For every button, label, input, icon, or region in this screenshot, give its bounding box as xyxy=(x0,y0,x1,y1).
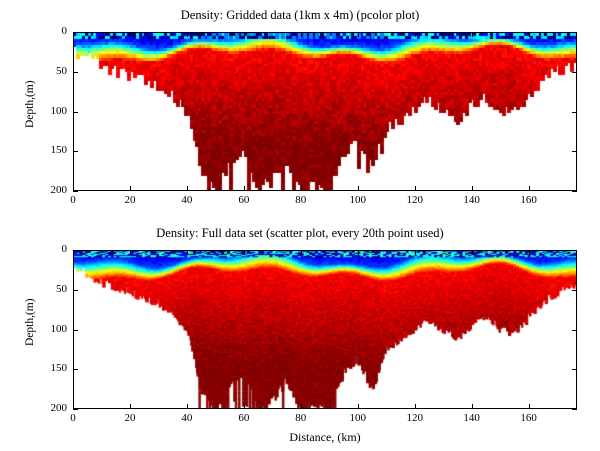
y-tick-label: 150 xyxy=(27,362,67,374)
y-tick-label: 150 xyxy=(27,144,67,156)
x-tickmark-top xyxy=(187,250,188,255)
x-tick-label: 80 xyxy=(281,412,321,424)
x-tickmark xyxy=(187,404,188,409)
x-tick-label: 100 xyxy=(338,412,378,424)
x-tickmark-top xyxy=(358,32,359,37)
x-tickmark-top xyxy=(187,32,188,37)
panel-scatter-title: Density: Full data set (scatter plot, ev… xyxy=(0,226,600,241)
y-tickmark-right xyxy=(572,250,577,251)
panel-scatter-canvas xyxy=(74,251,576,408)
x-tick-label: 140 xyxy=(452,412,492,424)
y-tickmark xyxy=(73,32,78,33)
x-tickmark xyxy=(358,186,359,191)
panel-gridded-canvas xyxy=(74,33,576,190)
y-tick-label: 200 xyxy=(27,184,67,196)
x-tickmark xyxy=(358,404,359,409)
y-tickmark-right xyxy=(572,151,577,152)
x-tickmark xyxy=(415,404,416,409)
x-tickmark-top xyxy=(415,250,416,255)
x-tick-label: 80 xyxy=(281,194,321,206)
panel-scatter: Density: Full data set (scatter plot, ev… xyxy=(0,218,600,451)
y-tickmark xyxy=(73,330,78,331)
x-tickmark xyxy=(529,404,530,409)
y-tickmark xyxy=(73,409,78,410)
x-tickmark xyxy=(187,186,188,191)
x-tick-label: 40 xyxy=(167,194,207,206)
x-tickmark xyxy=(244,404,245,409)
y-tickmark xyxy=(73,250,78,251)
x-tickmark-top xyxy=(415,32,416,37)
panel-gridded-plot-area[interactable] xyxy=(73,32,577,191)
x-tick-label: 60 xyxy=(224,194,264,206)
y-tick-label: 50 xyxy=(27,65,67,77)
y-tickmark-right xyxy=(572,290,577,291)
x-tickmark-top xyxy=(301,32,302,37)
y-tickmark xyxy=(73,151,78,152)
x-tickmark xyxy=(529,186,530,191)
y-tick-label: 100 xyxy=(27,323,67,335)
x-tick-label: 100 xyxy=(338,194,378,206)
panel-scatter-plot-area[interactable] xyxy=(73,250,577,409)
x-tickmark-top xyxy=(244,250,245,255)
x-tick-label: 140 xyxy=(452,194,492,206)
x-tickmark-top xyxy=(472,32,473,37)
x-tickmark-top xyxy=(244,32,245,37)
x-tick-label: 40 xyxy=(167,412,207,424)
x-tickmark xyxy=(301,186,302,191)
x-tick-label: 20 xyxy=(110,194,150,206)
y-tickmark xyxy=(73,290,78,291)
panel-gridded: Density: Gridded data (1km x 4m) (pcolor… xyxy=(0,0,600,215)
y-tick-label: 0 xyxy=(27,25,67,37)
x-tickmark-top xyxy=(529,32,530,37)
x-tick-label: 120 xyxy=(395,412,435,424)
y-tick-label: 200 xyxy=(27,402,67,414)
x-tickmark xyxy=(472,404,473,409)
x-tickmark-top xyxy=(130,250,131,255)
x-tickmark-top xyxy=(472,250,473,255)
x-tick-label: 60 xyxy=(224,412,264,424)
y-tickmark-right xyxy=(572,330,577,331)
y-tickmark xyxy=(73,112,78,113)
x-tick-label: 160 xyxy=(509,412,549,424)
y-tick-label: 100 xyxy=(27,105,67,117)
x-tickmark-top xyxy=(529,250,530,255)
y-tickmark-right xyxy=(572,32,577,33)
x-tickmark xyxy=(130,404,131,409)
x-tickmark xyxy=(244,186,245,191)
y-tickmark-right xyxy=(572,112,577,113)
x-tickmark xyxy=(472,186,473,191)
y-tickmark xyxy=(73,369,78,370)
y-tickmark-right xyxy=(572,191,577,192)
y-tickmark-right xyxy=(572,369,577,370)
x-tickmark-top xyxy=(301,250,302,255)
y-tick-label: 0 xyxy=(27,243,67,255)
panel-scatter-xlabel: Distance, (km) xyxy=(73,430,577,445)
x-tick-label: 20 xyxy=(110,412,150,424)
y-tickmark xyxy=(73,191,78,192)
figure-root: Density: Gridded data (1km x 4m) (pcolor… xyxy=(0,0,600,451)
y-tickmark-right xyxy=(572,72,577,73)
x-tickmark xyxy=(130,186,131,191)
x-tickmark xyxy=(301,404,302,409)
y-tickmark-right xyxy=(572,409,577,410)
x-tick-label: 160 xyxy=(509,194,549,206)
y-tickmark xyxy=(73,72,78,73)
x-tickmark xyxy=(415,186,416,191)
x-tickmark-top xyxy=(130,32,131,37)
x-tick-label: 120 xyxy=(395,194,435,206)
panel-gridded-title: Density: Gridded data (1km x 4m) (pcolor… xyxy=(0,8,600,23)
x-tickmark-top xyxy=(358,250,359,255)
y-tick-label: 50 xyxy=(27,283,67,295)
